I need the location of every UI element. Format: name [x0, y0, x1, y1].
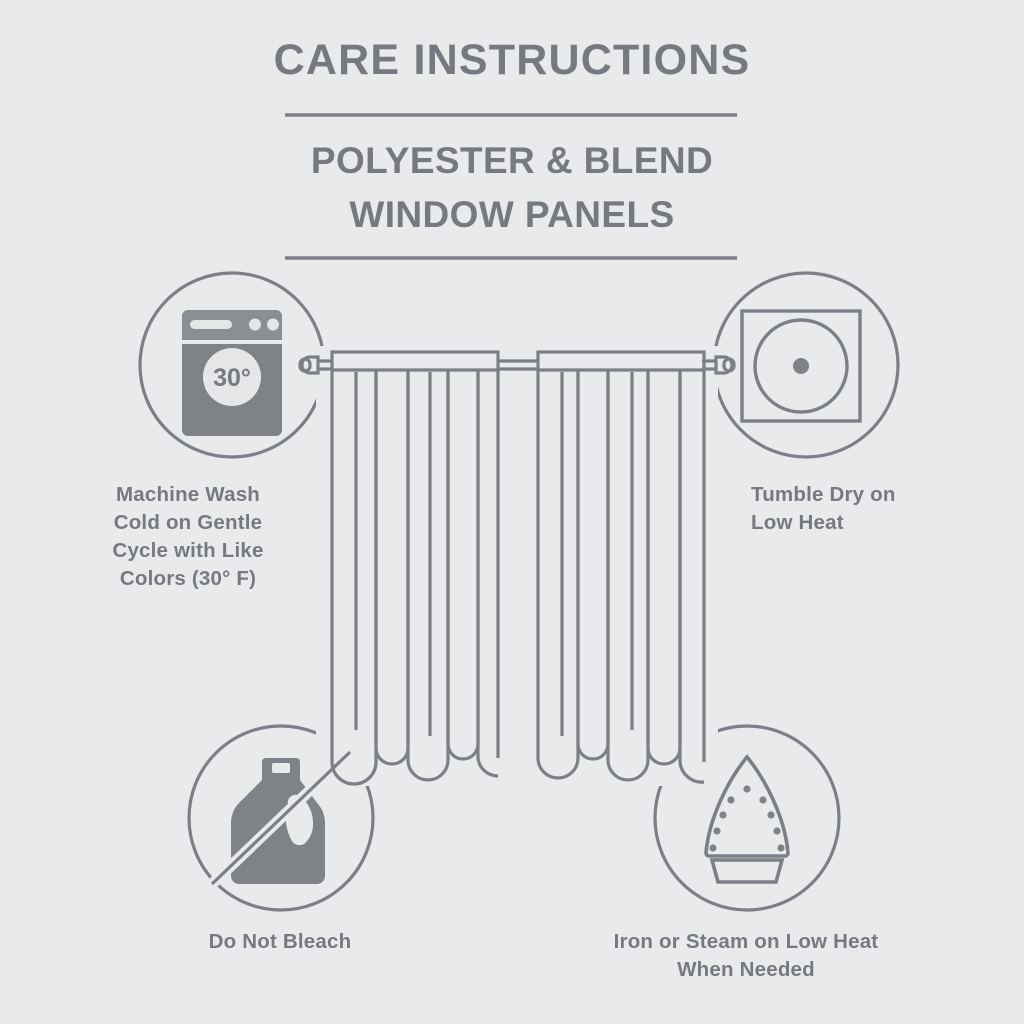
- subtitle-line-2: WINDOW PANELS: [0, 194, 1024, 236]
- caption-machine-wash: Machine Wash Cold on Gentle Cycle with L…: [54, 481, 322, 593]
- low-heat-dot: [793, 358, 809, 374]
- steam-holes: [709, 785, 784, 851]
- curtain-panel-left: [332, 352, 498, 784]
- care-instructions-poster: 30°: [0, 0, 1024, 1024]
- curtain-illustration: [300, 352, 734, 784]
- washing-machine-symbol: 30°: [140, 273, 324, 457]
- iron-symbol: [655, 726, 839, 910]
- do-not-bleach-symbol: [189, 726, 373, 910]
- curtain-panel-right: [538, 352, 704, 782]
- tumble-dry-symbol: [714, 273, 898, 457]
- caption-do-not-bleach: Do Not Bleach: [160, 928, 400, 956]
- subtitle-line-1: POLYESTER & BLEND: [0, 140, 1024, 182]
- curtain-rod: [318, 361, 716, 369]
- caption-iron-steam: Iron or Steam on Low Heat When Needed: [556, 928, 936, 984]
- page-title: CARE INSTRUCTIONS: [0, 36, 1024, 85]
- rod-finial-left: [300, 357, 318, 373]
- caption-tumble-dry: Tumble Dry on Low Heat: [751, 481, 1011, 537]
- wash-temperature-label: 30°: [213, 364, 251, 392]
- rod-finial-right: [716, 357, 734, 373]
